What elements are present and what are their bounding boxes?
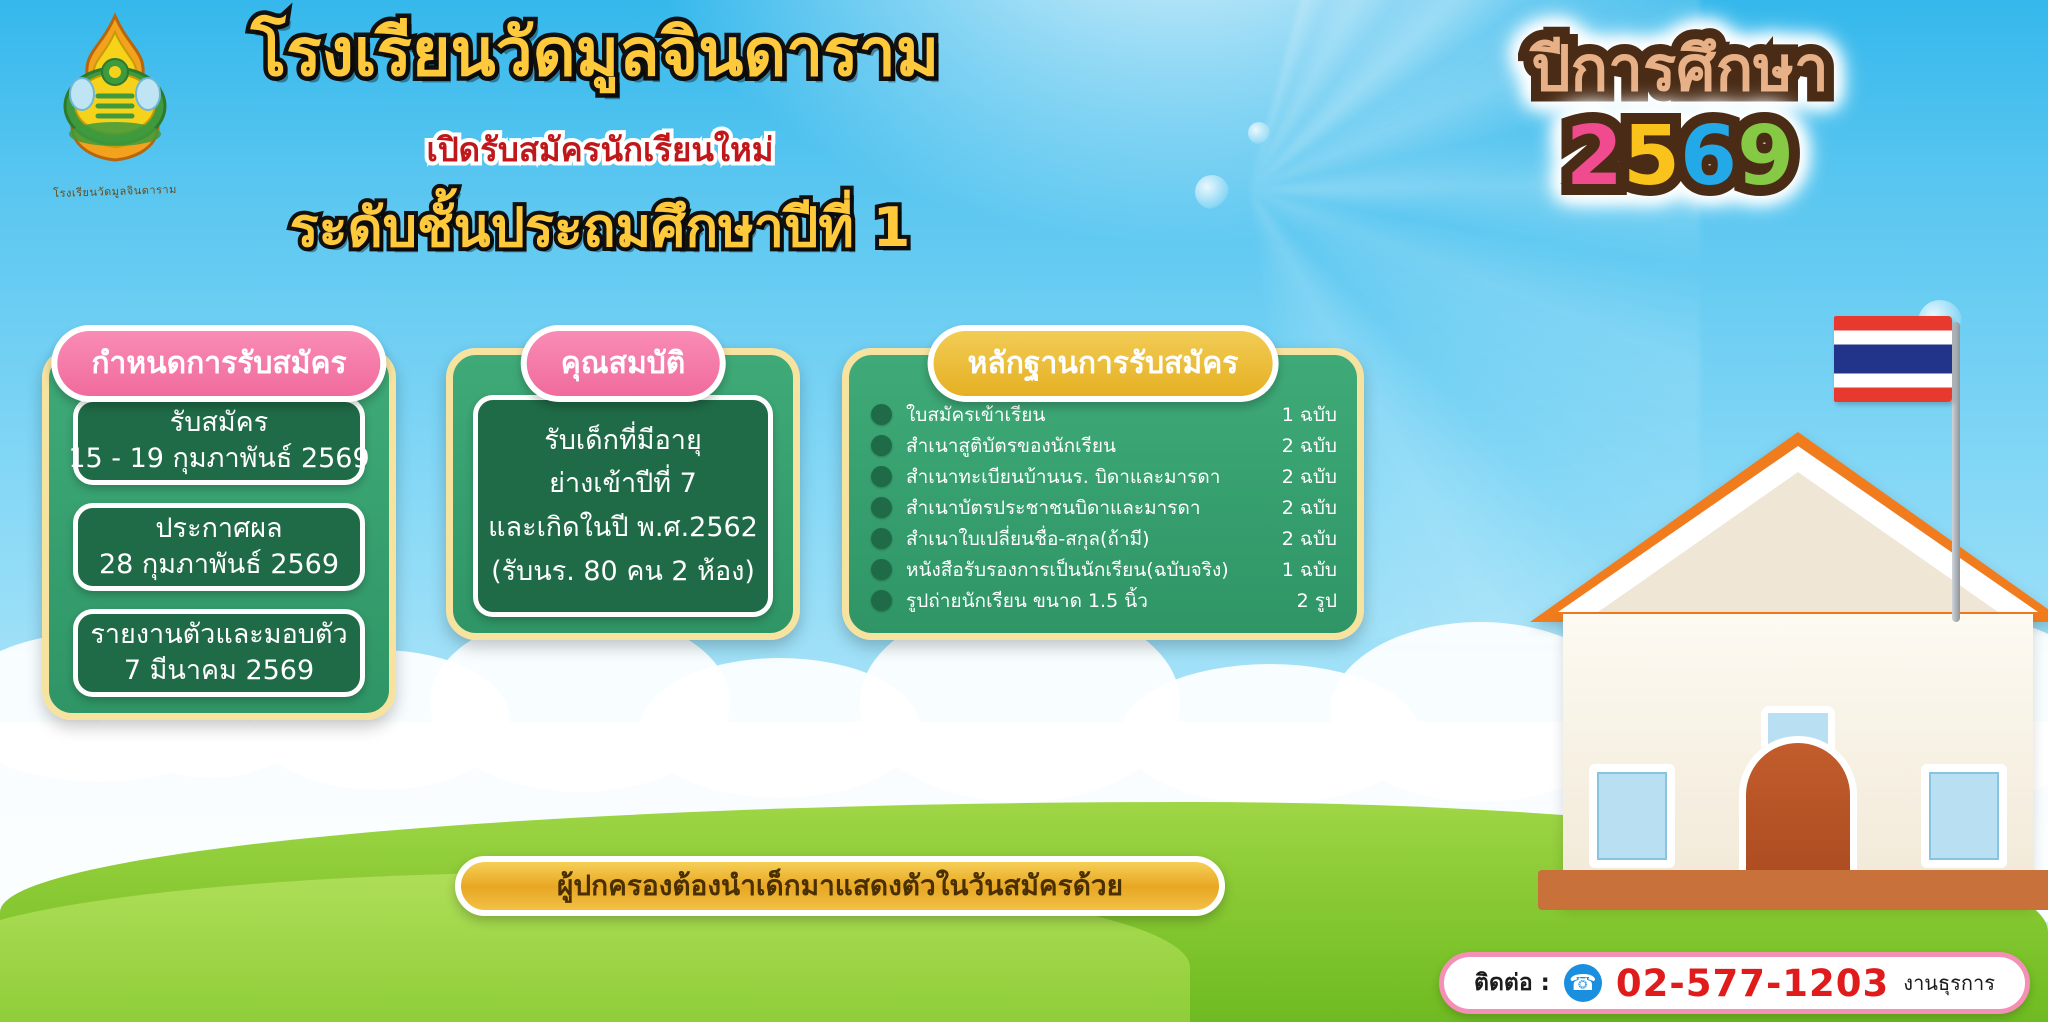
qualification-line-1: ย่างเข้าปีที่ 7 — [549, 462, 697, 506]
document-quantity: 2 ฉบับ — [1271, 431, 1337, 461]
schedule-item: รายงานตัวและมอบตัว7 มีนาคม 2569 — [73, 609, 365, 697]
required-documents-card-title: หลักฐานการรับสมัคร — [928, 325, 1279, 402]
contact-department: งานธุรการ — [1903, 967, 1995, 999]
bullet-icon — [871, 590, 892, 611]
document-name: หนังสือรับรองการเป็นนักเรียน(ฉบับจริง) — [906, 555, 1257, 585]
qualification-card: คุณสมบัติ รับเด็กที่มีอายุย่างเข้าปีที่ … — [446, 348, 800, 640]
schedule-item-line-0: ประกาศผล — [155, 511, 282, 547]
admission-schedule-card: กำหนดการรับสมัคร รับสมัคร15 - 19 กุมภาพั… — [42, 348, 396, 720]
document-quantity: 2 ฉบับ — [1271, 524, 1337, 554]
qualification-card-title: คุณสมบัติ — [521, 325, 726, 402]
admission-schedule-card-title: กำหนดการรับสมัคร — [51, 325, 386, 402]
qualification-line-0: รับเด็กที่มีอายุ — [544, 419, 702, 463]
required-documents-list: ใบสมัครเข้าเรียน1 ฉบับสำเนาสูติบัตรของนั… — [871, 399, 1337, 616]
bullet-icon — [871, 497, 892, 518]
document-quantity: 2 ฉบับ — [1271, 462, 1337, 492]
schedule-item-line-1: 7 มีนาคม 2569 — [124, 653, 314, 689]
academic-year-digit-2: 6 — [1680, 116, 1737, 198]
bullet-icon — [871, 404, 892, 425]
document-name: สำเนาทะเบียนบ้านนร. บิดาและมารดา — [906, 462, 1257, 492]
contact-bar[interactable]: ติดต่อ : ☎ 02-577-1203 งานธุรการ — [1439, 952, 2030, 1014]
flag-pole — [1952, 322, 1960, 622]
admission-schedule-list: รับสมัคร15 - 19 กุมภาพันธ์ 2569ประกาศผล2… — [49, 355, 389, 697]
document-name: สำเนาบัตรประชาชนบิดาและมารดา — [906, 493, 1257, 523]
document-row: สำเนาสูติบัตรของนักเรียน2 ฉบับ — [871, 430, 1337, 461]
document-row: หนังสือรับรองการเป็นนักเรียน(ฉบับจริง)1 … — [871, 554, 1337, 585]
bullet-icon — [871, 466, 892, 487]
school-building-illustration — [1518, 432, 2048, 902]
page-title: โรงเรียนวัดมูลจินดาราม — [200, 18, 990, 87]
document-quantity: 2 รูป — [1271, 586, 1337, 616]
qualification-line-2: และเกิดในปี พ.ศ.2562 — [488, 506, 758, 550]
document-name: สำเนาใบเปลี่ยนชื่อ-สกุล(ถ้ามี) — [906, 524, 1257, 554]
academic-year-badge: ปีการศึกษา 2569 — [1420, 38, 1940, 198]
thai-flag-icon — [1834, 316, 1952, 402]
admission-subtitle: เปิดรับสมัครนักเรียนใหม่ — [330, 132, 870, 168]
academic-year-digit-1: 5 — [1623, 116, 1680, 198]
schedule-item-line-0: รับสมัคร — [170, 405, 268, 441]
grade-level-title: ระดับชั้นประถมศึกษาปีที่ 1 — [180, 200, 1020, 257]
document-quantity: 1 ฉบับ — [1271, 555, 1337, 585]
poster-root: โรงเรียนวัดมูลจินดาราม โรงเรียนวัดมูลจิน… — [0, 0, 2048, 1022]
document-name: รูปถ่ายนักเรียน ขนาด 1.5 นิ้ว — [906, 586, 1257, 616]
academic-year-label: ปีการศึกษา — [1420, 38, 1940, 100]
schedule-item-line-0: รายงานตัวและมอบตัว — [90, 617, 347, 653]
document-row: ใบสมัครเข้าเรียน1 ฉบับ — [871, 399, 1337, 430]
bullet-icon — [871, 435, 892, 456]
document-quantity: 1 ฉบับ — [1271, 400, 1337, 430]
qualification-detail-block: รับเด็กที่มีอายุย่างเข้าปีที่ 7และเกิดใน… — [473, 395, 773, 617]
qualification-line-3: (รับนร. 80 คน 2 ห้อง) — [491, 550, 755, 594]
schedule-item: ประกาศผล28 กุมภาพันธ์ 2569 — [73, 503, 365, 591]
contact-label: ติดต่อ : — [1474, 965, 1550, 1001]
schedule-item: รับสมัคร15 - 19 กุมภาพันธ์ 2569 — [73, 397, 365, 485]
document-quantity: 2 ฉบับ — [1271, 493, 1337, 523]
schedule-item-line-1: 28 กุมภาพันธ์ 2569 — [99, 547, 339, 583]
academic-year-digit-3: 9 — [1737, 116, 1794, 198]
school-logo-caption: โรงเรียนวัดมูลจินดาราม — [30, 179, 201, 203]
academic-year-number: 2569 — [1420, 116, 1940, 198]
document-name: สำเนาสูติบัตรของนักเรียน — [906, 431, 1257, 461]
contact-phone-number[interactable]: 02-577-1203 — [1616, 962, 1889, 1005]
phone-icon: ☎ — [1564, 964, 1602, 1002]
document-row: สำเนาทะเบียนบ้านนร. บิดาและมารดา2 ฉบับ — [871, 461, 1337, 492]
schedule-item-line-1: 15 - 19 กุมภาพันธ์ 2569 — [68, 441, 369, 477]
bullet-icon — [871, 528, 892, 549]
guardian-note-banner: ผู้ปกครองต้องนำเด็กมาแสดงตัวในวันสมัครด้… — [455, 856, 1225, 916]
document-row: รูปถ่ายนักเรียน ขนาด 1.5 นิ้ว2 รูป — [871, 585, 1337, 616]
document-name: ใบสมัครเข้าเรียน — [906, 400, 1257, 430]
document-row: สำเนาบัตรประชาชนบิดาและมารดา2 ฉบับ — [871, 492, 1337, 523]
school-logo: โรงเรียนวัดมูลจินดาราม — [30, 10, 200, 200]
document-row: สำเนาใบเปลี่ยนชื่อ-สกุล(ถ้ามี)2 ฉบับ — [871, 523, 1337, 554]
academic-year-digit-0: 2 — [1566, 116, 1623, 198]
bullet-icon — [871, 559, 892, 580]
required-documents-card: หลักฐานการรับสมัคร ใบสมัครเข้าเรียน1 ฉบั… — [842, 348, 1364, 640]
